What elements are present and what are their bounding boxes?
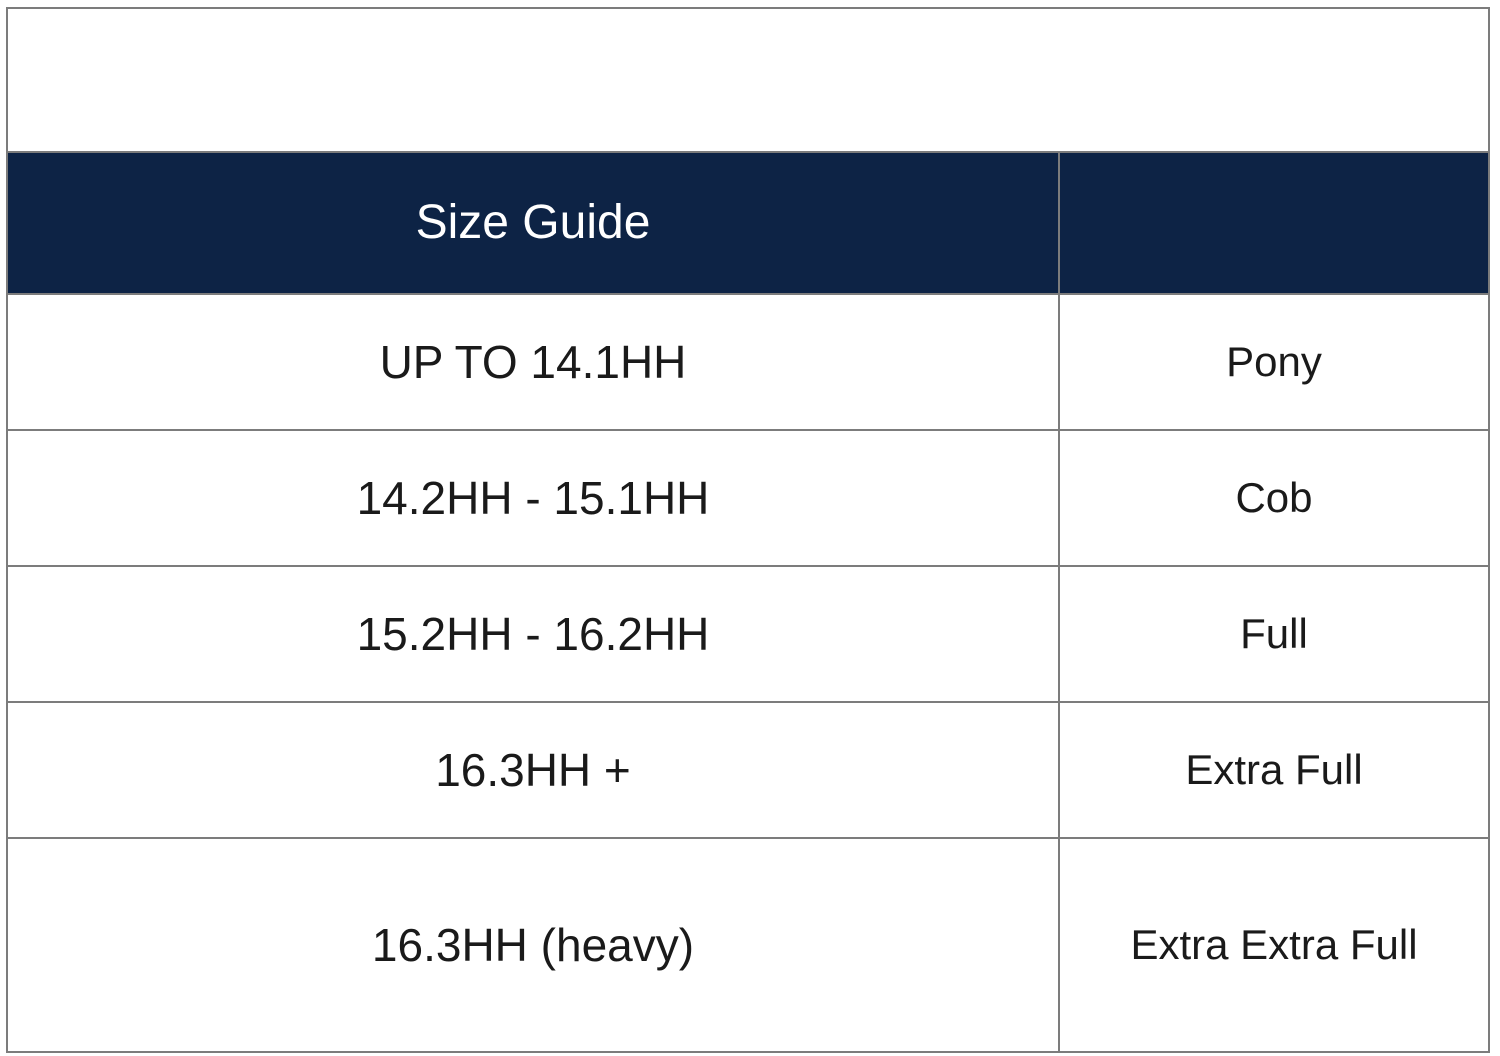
cell-size-label: UP TO 14.1HH: [8, 336, 1058, 389]
table-row: 15.2HH - 16.2HH Full: [7, 566, 1489, 702]
cell-fit: Full: [1059, 566, 1489, 702]
cell-fit-label: Full: [1060, 606, 1488, 663]
table-row: 16.3HH (heavy) Extra Extra Full: [7, 838, 1489, 1052]
cell-fit: Pony: [1059, 294, 1489, 430]
table-row: UP TO 14.1HH Pony: [7, 294, 1489, 430]
cell-size: 16.3HH (heavy): [7, 838, 1059, 1052]
table-header-row: Size Guide: [7, 152, 1489, 294]
cell-size: UP TO 14.1HH: [7, 294, 1059, 430]
cell-fit-label: Cob: [1060, 470, 1488, 527]
column-header-size-guide-label: Size Guide: [8, 197, 1058, 250]
table-row: 14.2HH - 15.1HH Cob: [7, 430, 1489, 566]
column-header-size-guide: Size Guide: [7, 152, 1059, 294]
table-title-row: Over Reach Boot Fit Guide: [7, 8, 1489, 152]
cell-fit: Extra Extra Full: [1059, 838, 1489, 1052]
cell-fit-label: Pony: [1060, 334, 1488, 391]
cell-fit: Extra Full: [1059, 702, 1489, 838]
table-title-cell: Over Reach Boot Fit Guide: [7, 8, 1489, 152]
cell-size-label: 15.2HH - 16.2HH: [8, 608, 1058, 661]
cell-size-label: 16.3HH +: [8, 744, 1058, 797]
column-header-fit: [1059, 152, 1489, 294]
cell-size: 14.2HH - 15.1HH: [7, 430, 1059, 566]
cell-size: 15.2HH - 16.2HH: [7, 566, 1059, 702]
table-row: 16.3HH + Extra Full: [7, 702, 1489, 838]
cell-fit-label: Extra Extra Full: [1094, 917, 1454, 974]
cell-size-label: 14.2HH - 15.1HH: [8, 472, 1058, 525]
page-title: Over Reach Boot Fit Guide: [8, 46, 1488, 114]
cell-fit: Cob: [1059, 430, 1489, 566]
cell-fit-label: Extra Full: [1060, 742, 1488, 799]
page-root: Over Reach Boot Fit Guide Size Guide UP …: [0, 0, 1500, 1056]
size-guide-table: Over Reach Boot Fit Guide Size Guide UP …: [6, 7, 1490, 1053]
cell-size: 16.3HH +: [7, 702, 1059, 838]
cell-size-label: 16.3HH (heavy): [8, 919, 1058, 972]
